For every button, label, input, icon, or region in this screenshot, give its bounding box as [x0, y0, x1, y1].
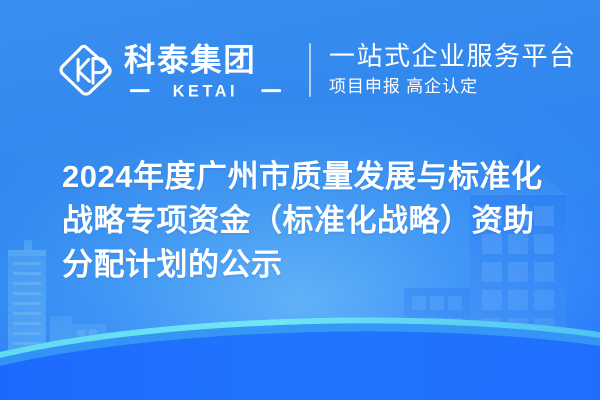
page-title: 2024年度广州市质量发展与标准化 战略专项资金（标准化战略）资助 分配计划的公… [62, 155, 582, 287]
logo-company-name-cn: 科泰集团 [124, 42, 287, 78]
logo-company-name-cn-text: 科泰集团 [124, 42, 257, 77]
page-title-line-2: 战略专项资金（标准化战略）资助 [62, 199, 582, 243]
logo-company-name-en: KETAI [124, 81, 287, 99]
ketai-logo-icon[interactable] [58, 42, 114, 98]
page-title-line-3: 分配计划的公示 [62, 243, 582, 287]
logo-dash-right [261, 89, 281, 92]
logo-dash-left [130, 89, 150, 92]
logo-wordmark: 科泰集团 KETAI [124, 42, 287, 99]
announcement-banner: 科泰集团 KETAI 一站式企业服务平台 项目申报 高企认定 2024年度广州市… [0, 0, 600, 400]
tagline-sub: 项目申报 高企认定 [329, 76, 577, 97]
tagline-block: 一站式企业服务平台 项目申报 高企认定 [329, 42, 577, 97]
page-title-line-1: 2024年度广州市质量发展与标准化 [62, 155, 582, 199]
header-divider [309, 43, 311, 97]
banner-header: 科泰集团 KETAI 一站式企业服务平台 项目申报 高企认定 [0, 0, 600, 140]
logo-company-name-en-text: KETAI [173, 82, 238, 99]
tagline-main: 一站式企业服务平台 [329, 42, 577, 71]
